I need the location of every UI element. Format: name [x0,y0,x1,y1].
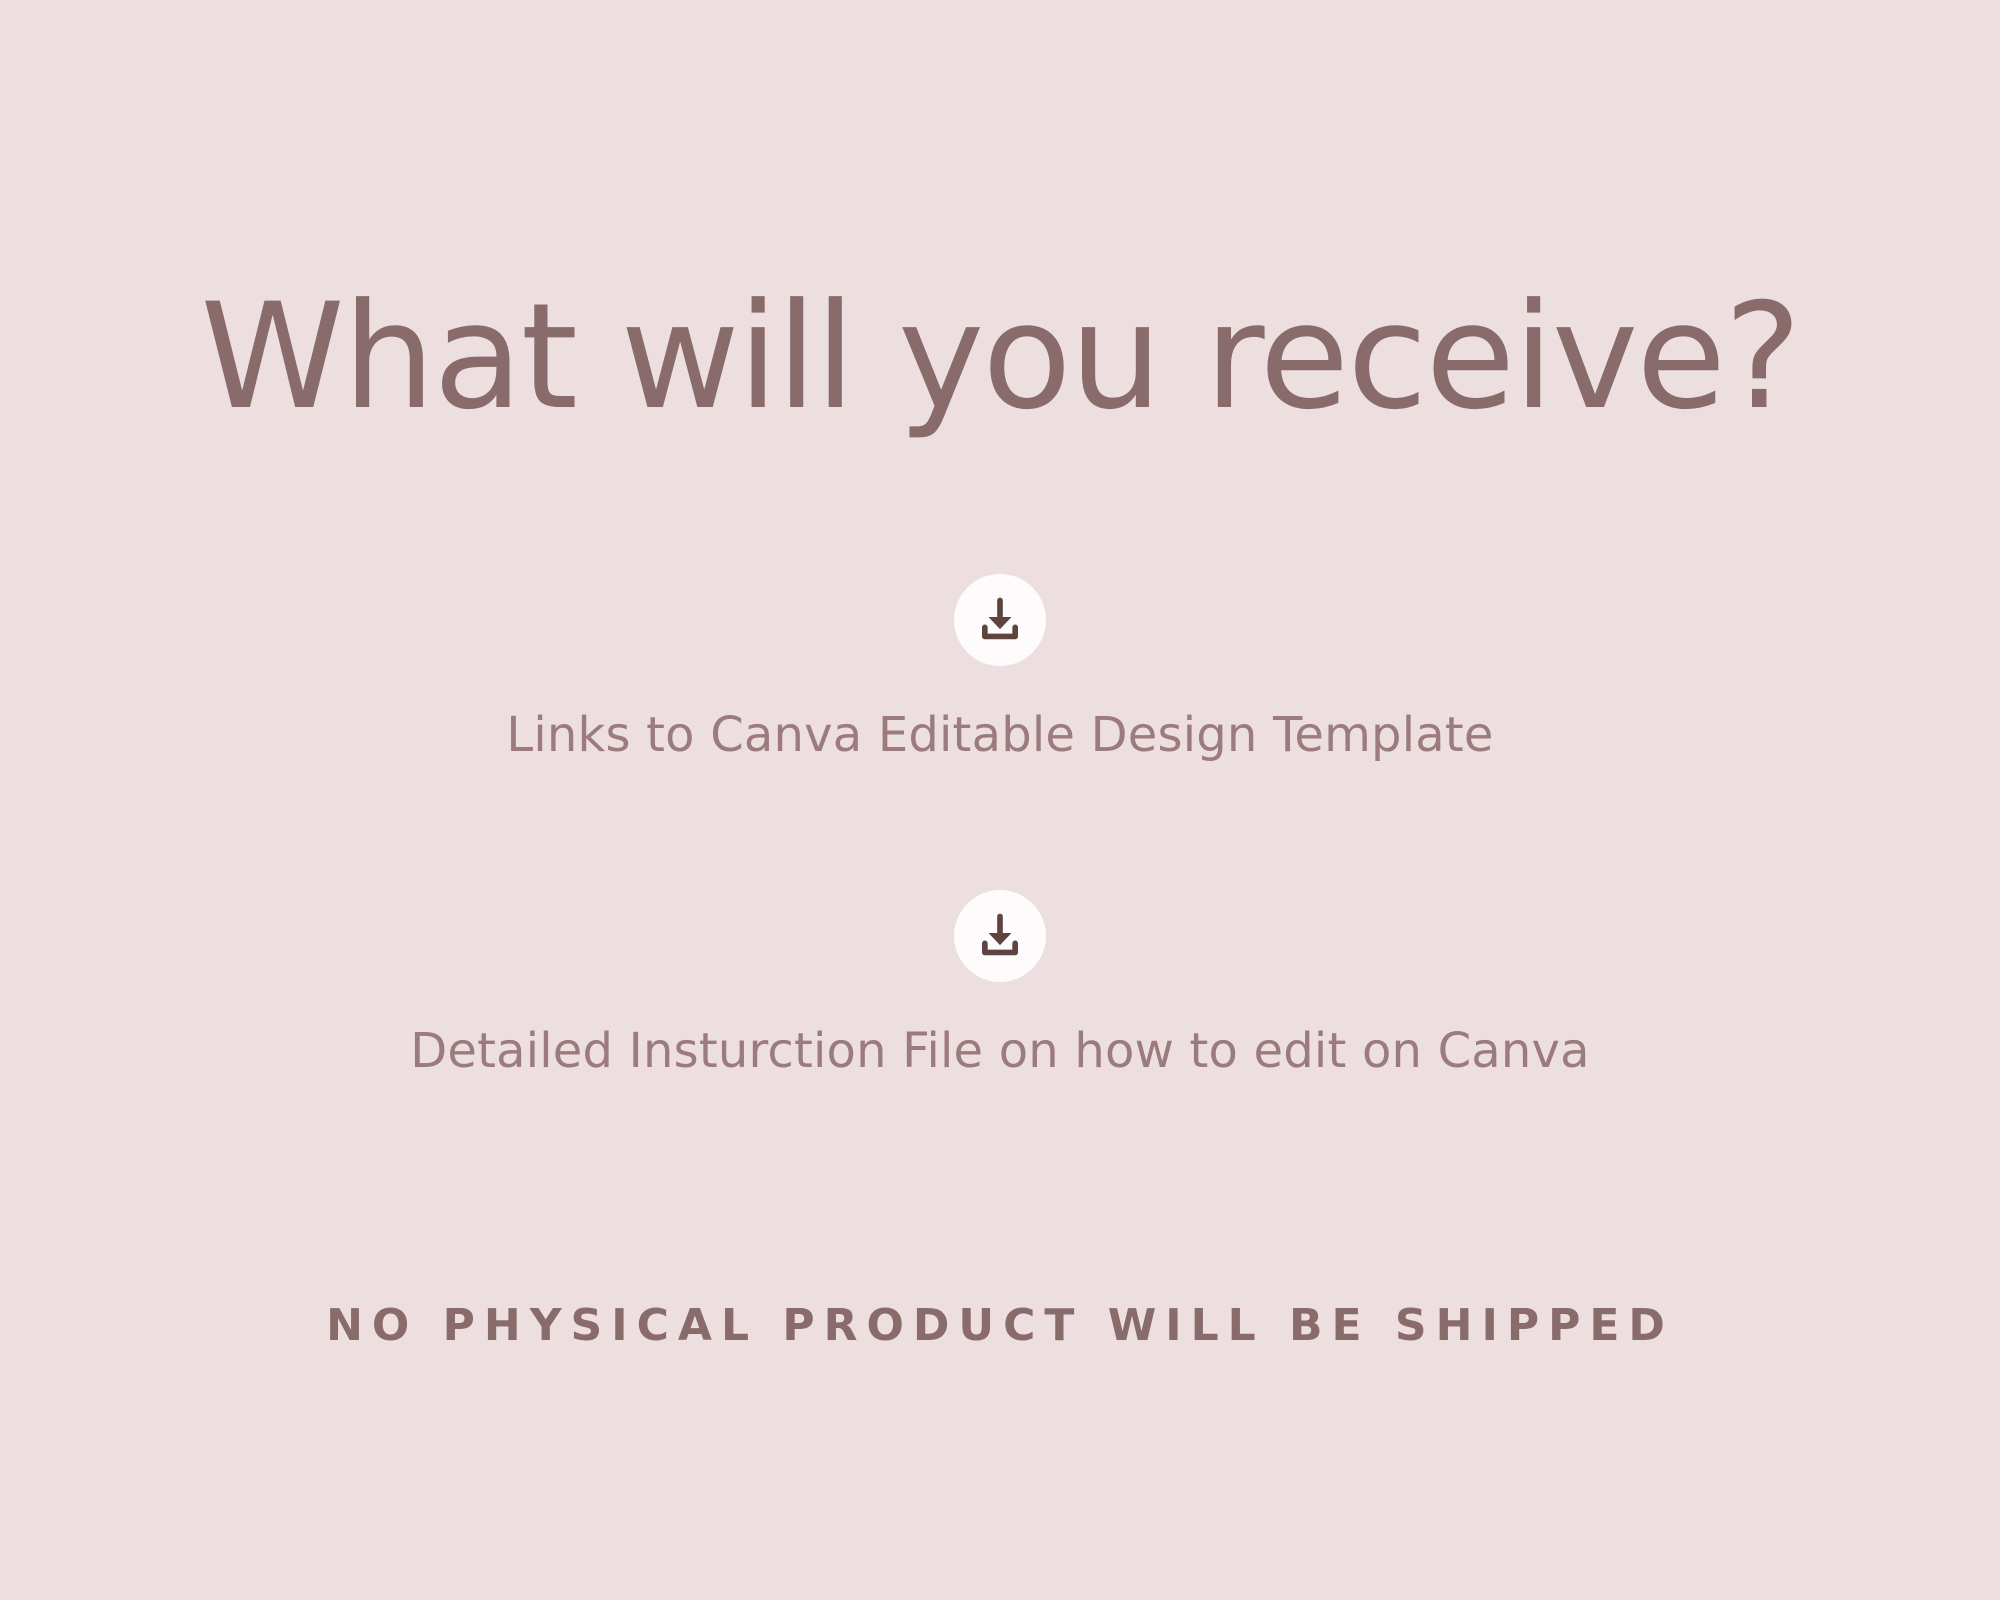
download-icon [954,890,1046,982]
feature-label-2: Detailed Insturction File on how to edit… [410,1024,1590,1079]
feature-item-1: Links to Canva Editable Design Template [0,574,2000,763]
shipping-disclaimer: NO PHYSICAL PRODUCT WILL BE SHIPPED [0,1302,2000,1350]
page-title: What will you receive? [0,284,2000,430]
feature-label-1: Links to Canva Editable Design Template [506,708,1493,763]
download-icon [954,574,1046,666]
promo-slide: What will you receive? Links to Canva Ed… [0,0,2000,1600]
feature-item-2: Detailed Insturction File on how to edit… [0,890,2000,1079]
